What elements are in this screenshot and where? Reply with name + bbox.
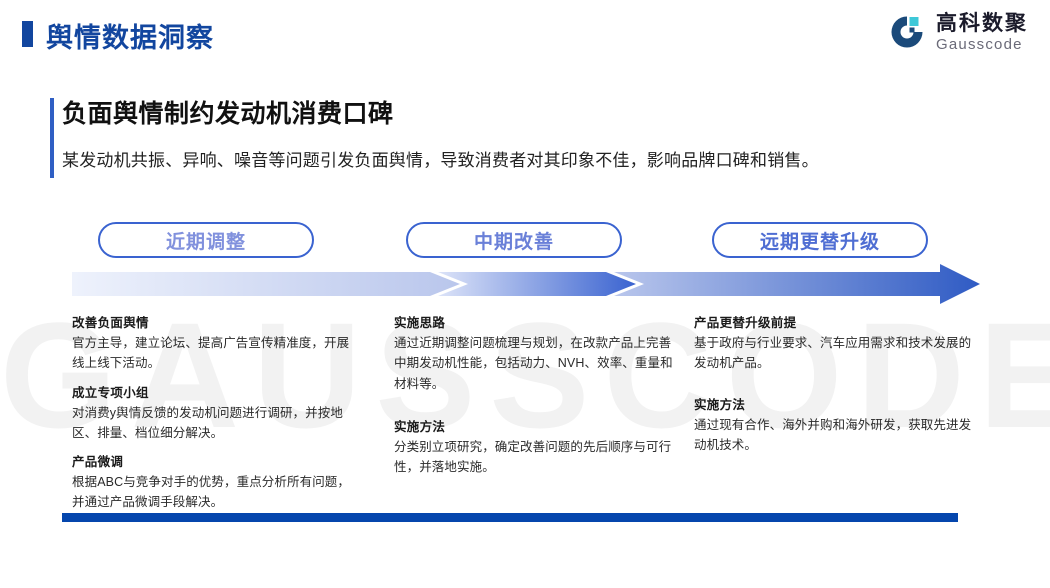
- block-title: 实施方法: [394, 416, 674, 435]
- logo-wordmark: 高科数聚 Gausscode: [936, 13, 1028, 52]
- column-long-term: 产品更替升级前提 基于政府与行业要求、汽车应用需求和技术发展的发动机产品。 实施…: [694, 312, 974, 475]
- content-block: 产品微调 根据ABC与竞争对手的优势，重点分析所有问题，并通过产品微调手段解决。: [72, 451, 360, 513]
- logo-name-en: Gausscode: [936, 37, 1028, 52]
- column-near-term: 改善负面舆情 官方主导，建立论坛、提高广告宣传精准度，开展线上线下活动。 成立专…: [72, 312, 360, 521]
- phase-pill-label: 远期更替升级: [760, 227, 880, 254]
- block-body: 基于政府与行业要求、汽车应用需求和技术发展的发动机产品。: [694, 333, 974, 374]
- block-body: 官方主导，建立论坛、提高广告宣传精准度，开展线上线下活动。: [72, 333, 360, 374]
- footer-accent-bar: [62, 513, 958, 522]
- content-block: 产品更替升级前提 基于政府与行业要求、汽车应用需求和技术发展的发动机产品。: [694, 312, 974, 374]
- phase-pill-label: 近期调整: [166, 227, 246, 254]
- content-block: 实施思路 通过近期调整问题梳理与规划，在改款产品上完善中期发动机性能，包括动力、…: [394, 312, 674, 394]
- block-title: 实施方法: [694, 394, 974, 413]
- block-body: 根据ABC与竞争对手的优势，重点分析所有问题，并通过产品微调手段解决。: [72, 472, 360, 513]
- content-block: 成立专项小组 对消费y舆情反馈的发动机问题进行调研，并按地区、排量、档位细分解决…: [72, 382, 360, 444]
- phase-pill-near-term[interactable]: 近期调整: [98, 222, 314, 258]
- headline-accent-bar: [50, 98, 54, 178]
- block-body: 通过现有合作、海外并购和海外研发，获取先进发动机技术。: [694, 415, 974, 456]
- header-bullet-icon: [22, 21, 33, 47]
- logo-name-cn: 高科数聚: [936, 13, 1028, 34]
- phase-pill-long-term[interactable]: 远期更替升级: [712, 222, 928, 258]
- subheadline-text: 某发动机共振、异响、噪音等问题引发负面舆情，导致消费者对其印象不佳，影响品牌口碑…: [62, 146, 819, 171]
- slide-header: 舆情数据洞察 高科数聚 Gausscode: [0, 0, 1050, 68]
- gausscode-mark-icon: [887, 12, 927, 52]
- phase-pill-mid-term[interactable]: 中期改善: [406, 222, 622, 258]
- column-mid-term: 实施思路 通过近期调整问题梳理与规划，在改款产品上完善中期发动机性能，包括动力、…: [394, 312, 674, 499]
- headline-text: 负面舆情制约发动机消费口碑: [62, 94, 819, 130]
- block-title: 产品微调: [72, 451, 360, 470]
- block-title: 产品更替升级前提: [694, 312, 974, 331]
- block-title: 实施思路: [394, 312, 674, 331]
- slide-canvas: GAUSSCODE 舆情数据洞察 高科数聚 Gausscode 负面舆情制约发动…: [0, 0, 1050, 588]
- headline-block: 负面舆情制约发动机消费口碑 某发动机共振、异响、噪音等问题引发负面舆情，导致消费…: [62, 94, 819, 171]
- brand-logo: 高科数聚 Gausscode: [887, 12, 1028, 52]
- timeline-arrow: [72, 264, 980, 304]
- block-title: 改善负面舆情: [72, 312, 360, 331]
- block-body: 通过近期调整问题梳理与规划，在改款产品上完善中期发动机性能，包括动力、NVH、效…: [394, 333, 674, 394]
- block-body: 分类别立项研究，确定改善问题的先后顺序与可行性，并落地实施。: [394, 437, 674, 478]
- block-body: 对消费y舆情反馈的发动机问题进行调研，并按地区、排量、档位细分解决。: [72, 403, 360, 444]
- content-block: 实施方法 分类别立项研究，确定改善问题的先后顺序与可行性，并落地实施。: [394, 416, 674, 478]
- content-block: 改善负面舆情 官方主导，建立论坛、提高广告宣传精准度，开展线上线下活动。: [72, 312, 360, 374]
- content-block: 实施方法 通过现有合作、海外并购和海外研发，获取先进发动机技术。: [694, 394, 974, 456]
- block-title: 成立专项小组: [72, 382, 360, 401]
- phase-pill-label: 中期改善: [474, 227, 554, 254]
- page-title: 舆情数据洞察: [46, 16, 214, 55]
